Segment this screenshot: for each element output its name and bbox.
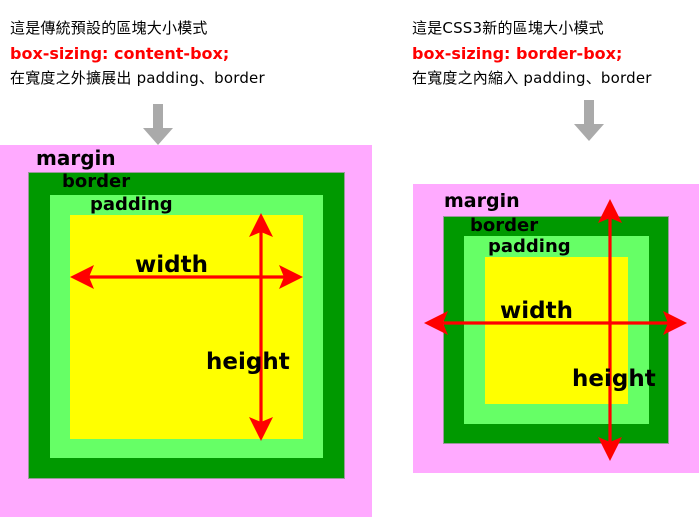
width-label: width: [135, 252, 208, 278]
arrow-down-icon: [573, 100, 605, 142]
caption-left-code: box-sizing: content-box;: [10, 41, 265, 66]
border-label: border: [62, 171, 130, 192]
caption-right-code: box-sizing: border-box;: [412, 41, 652, 66]
width-label: width: [500, 298, 573, 324]
arrow-down-icon: [142, 104, 174, 146]
caption-left-line3: 在寬度之外擴展出 padding、border: [10, 66, 265, 91]
padding-label: padding: [90, 194, 173, 215]
caption-content-box: 這是傳統預設的區塊大小模式 box-sizing: content-box; 在…: [10, 16, 265, 91]
height-label: height: [206, 349, 290, 375]
caption-right-line3: 在寬度之內縮入 padding、border: [412, 66, 652, 91]
height-label: height: [572, 366, 656, 392]
margin-label: margin: [444, 190, 520, 212]
caption-right-line1: 這是CSS3新的區塊大小模式: [412, 16, 652, 41]
height-dimension-arrow: [242, 213, 280, 441]
padding-label: padding: [488, 236, 571, 257]
caption-left-line1: 這是傳統預設的區塊大小模式: [10, 16, 265, 41]
caption-border-box: 這是CSS3新的區塊大小模式 box-sizing: border-box; 在…: [412, 16, 652, 91]
margin-label: margin: [36, 146, 116, 170]
border-label: border: [470, 215, 538, 236]
height-dimension-arrow: [591, 199, 629, 461]
